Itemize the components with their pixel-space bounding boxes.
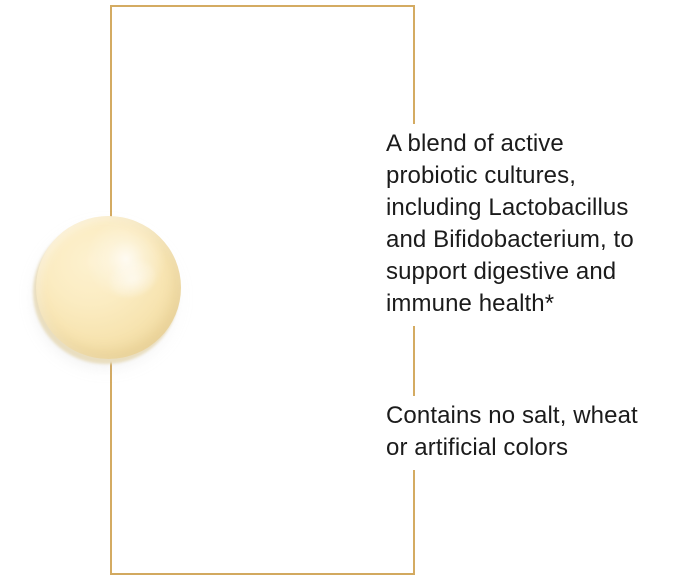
secondary-benefit-text: Contains no salt, wheat or artificial co… xyxy=(386,396,679,470)
product-feature-panel: A blend of active probiotic cultures, in… xyxy=(0,0,679,579)
tablet-body xyxy=(36,216,181,359)
tablet-specular-highlight xyxy=(106,256,160,303)
product-tablet-image xyxy=(18,196,198,396)
primary-benefit-text: A blend of active probiotic cultures, in… xyxy=(386,124,679,326)
